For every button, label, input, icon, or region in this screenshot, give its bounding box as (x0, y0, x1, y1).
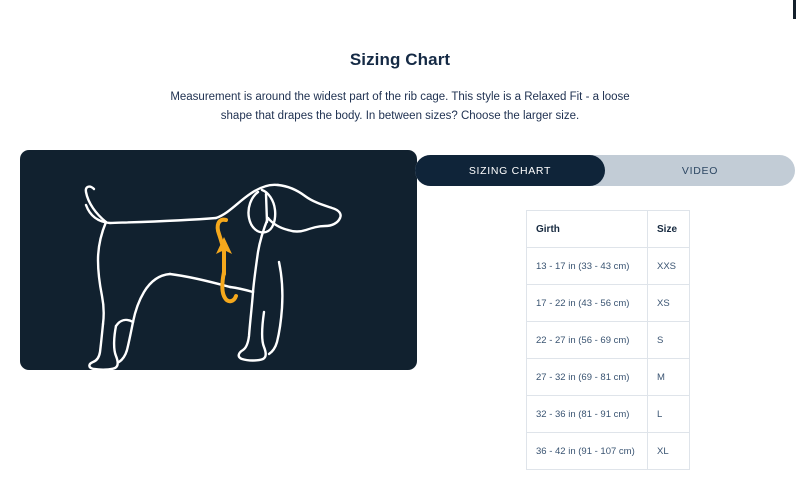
cell-size: XXS (648, 248, 690, 285)
tab-video[interactable]: VIDEO (605, 155, 795, 186)
cell-girth: 22 - 27 in (56 - 69 cm) (527, 322, 648, 359)
girth-arrow-icon (218, 220, 236, 302)
page-subtitle: Measurement is around the widest part of… (160, 88, 640, 126)
cell-girth: 32 - 36 in (81 - 91 cm) (527, 396, 648, 433)
column-header-girth: Girth (527, 211, 648, 248)
table-row: 13 - 17 in (33 - 43 cm) XXS (527, 248, 690, 285)
cell-size: XS (648, 285, 690, 322)
sizing-table-container: Girth Size 13 - 17 in (33 - 43 cm) XXS 1… (526, 210, 689, 470)
column-header-size: Size (648, 211, 690, 248)
viewport-edge-sliver (793, 0, 796, 19)
cell-girth: 27 - 32 in (69 - 81 cm) (527, 359, 648, 396)
dog-outline-icon (20, 150, 417, 370)
cell-size: XL (648, 433, 690, 470)
sizing-table: Girth Size 13 - 17 in (33 - 43 cm) XXS 1… (526, 210, 690, 470)
cell-size: L (648, 396, 690, 433)
table-row: 22 - 27 in (56 - 69 cm) S (527, 322, 690, 359)
cell-girth: 17 - 22 in (43 - 56 cm) (527, 285, 648, 322)
table-row: 32 - 36 in (81 - 91 cm) L (527, 396, 690, 433)
cell-girth: 13 - 17 in (33 - 43 cm) (527, 248, 648, 285)
tab-sizing-chart[interactable]: SIZING CHART (415, 155, 605, 186)
table-header-row: Girth Size (527, 211, 690, 248)
cell-size: S (648, 322, 690, 359)
content-tab-bar[interactable]: SIZING CHART VIDEO (415, 155, 795, 186)
dog-illustration-panel (20, 150, 417, 370)
table-row: 17 - 22 in (43 - 56 cm) XS (527, 285, 690, 322)
cell-size: M (648, 359, 690, 396)
cell-girth: 36 - 42 in (91 - 107 cm) (527, 433, 648, 470)
page-title: Sizing Chart (0, 50, 800, 70)
table-row: 36 - 42 in (91 - 107 cm) XL (527, 433, 690, 470)
table-row: 27 - 32 in (69 - 81 cm) M (527, 359, 690, 396)
